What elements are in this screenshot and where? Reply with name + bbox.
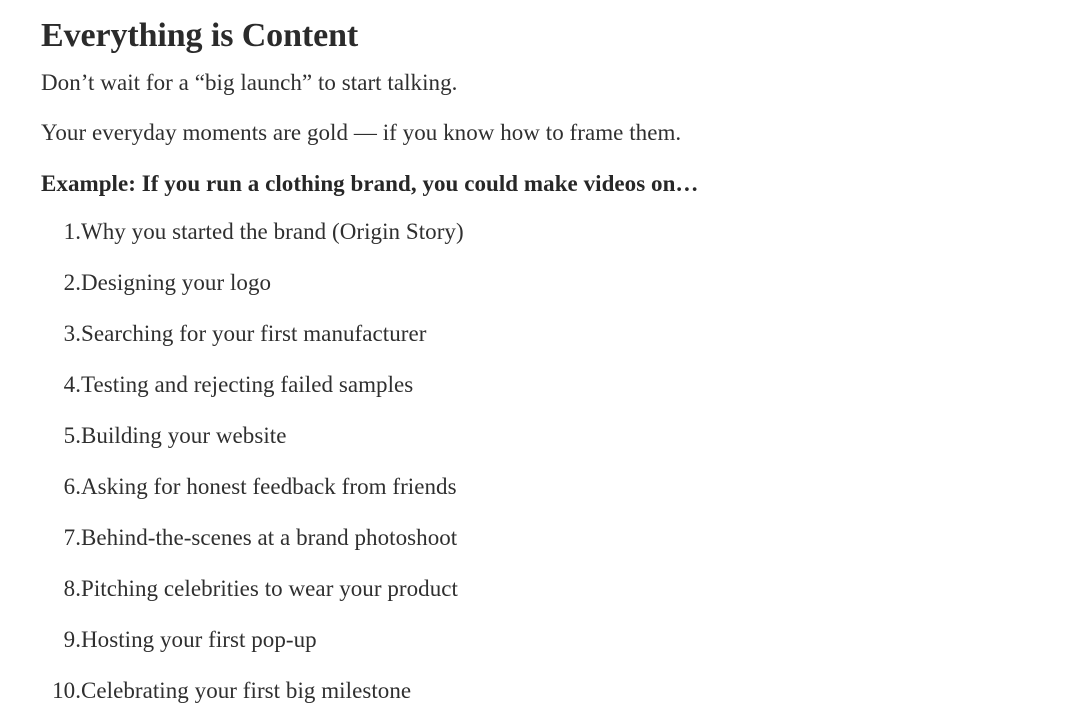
list-item-marker: 3. [41,319,81,349]
list-item-label: Designing your logo [81,268,1040,298]
list-item-label: Pitching celebrities to wear your produc… [81,574,1040,604]
list-item-marker: 6. [41,472,81,502]
list-item-marker: 7. [41,523,81,553]
list-item: 3. Searching for your first manufacturer [41,319,1040,349]
paragraph-example-heading: Example: If you run a clothing brand, yo… [41,169,1040,199]
list-item: 7. Behind-the-scenes at a brand photosho… [41,523,1040,553]
paragraph-intro: Don’t wait for a “big launch” to start t… [41,68,1040,98]
list-item: 4. Testing and rejecting failed samples [41,370,1040,400]
list-item-label: Testing and rejecting failed samples [81,370,1040,400]
document-page: Everything is Content Don’t wait for a “… [0,0,1080,728]
list-item-label: Why you started the brand (Origin Story) [81,217,1040,247]
list-item: 8. Pitching celebrities to wear your pro… [41,574,1040,604]
list-item: 1. Why you started the brand (Origin Sto… [41,217,1040,247]
list-item-marker: 9. [41,625,81,655]
list-item-marker: 5. [41,421,81,451]
list-item-label: Hosting your first pop-up [81,625,1040,655]
list-item-marker: 4. [41,370,81,400]
list-item-label: Building your website [81,421,1040,451]
list-item-marker: 1. [41,217,81,247]
list-item: 2. Designing your logo [41,268,1040,298]
list-item: 9. Hosting your first pop-up [41,625,1040,655]
list-item-label: Celebrating your first big milestone [81,676,1040,706]
list-item: 5. Building your website [41,421,1040,451]
list-item-marker: 8. [41,574,81,604]
paragraph-supporting: Your everyday moments are gold — if you … [41,118,1040,148]
list-item-label: Behind-the-scenes at a brand photoshoot [81,523,1040,553]
page-title: Everything is Content [41,14,1040,58]
content-ideas-list: 1. Why you started the brand (Origin Sto… [41,217,1040,706]
list-item-label: Searching for your first manufacturer [81,319,1040,349]
list-item-label: Asking for honest feedback from friends [81,472,1040,502]
document-body: Everything is Content Don’t wait for a “… [0,0,1080,706]
list-item-marker: 10. [41,676,81,706]
list-item: 6. Asking for honest feedback from frien… [41,472,1040,502]
list-item-marker: 2. [41,268,81,298]
list-item: 10. Celebrating your first big milestone [41,676,1040,706]
